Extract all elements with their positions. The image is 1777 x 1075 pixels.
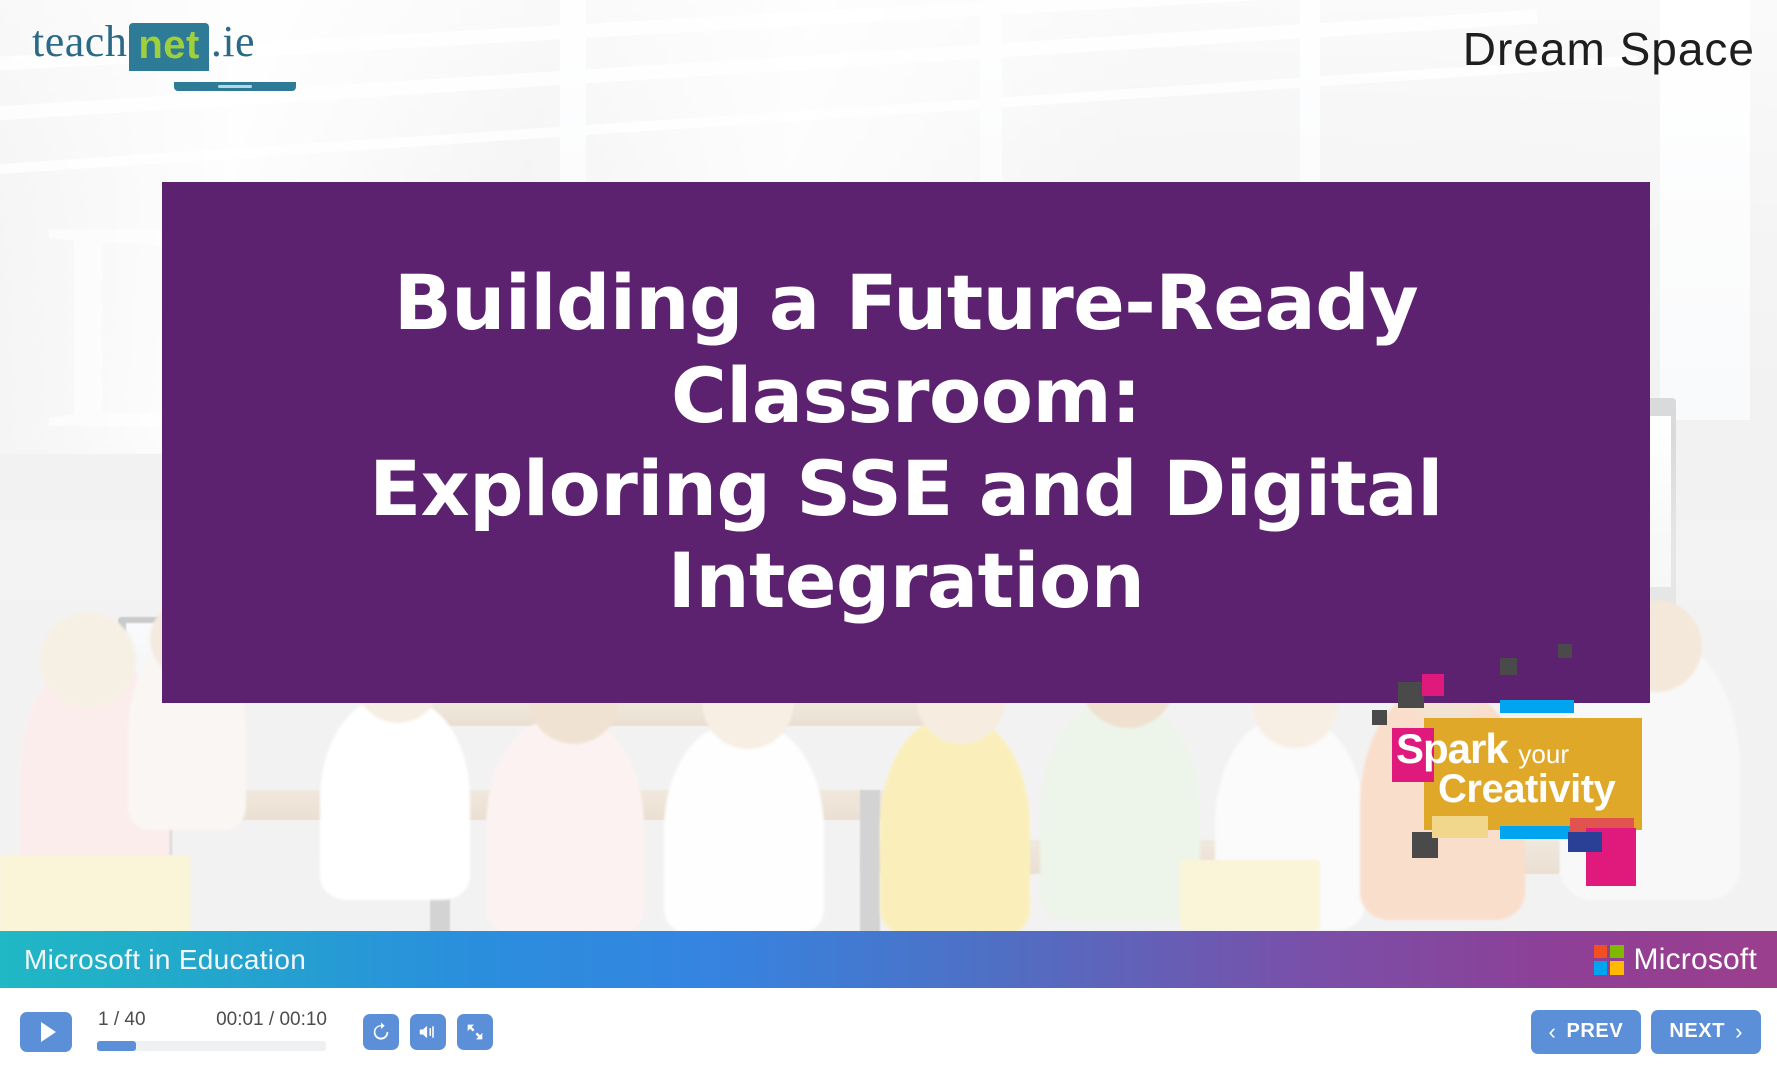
decor-square-magenta bbox=[1422, 674, 1444, 696]
spark-park: park bbox=[1423, 725, 1508, 772]
player-meta-row: 1 / 40 00:01 / 00:10 bbox=[94, 1009, 329, 1031]
slide-navigation: ‹ PREV NEXT › bbox=[1531, 1010, 1762, 1054]
decor-square-gray bbox=[1372, 710, 1387, 725]
slide-title-line-3: Exploring SSE and Digital bbox=[369, 443, 1443, 536]
volume-icon bbox=[417, 1021, 439, 1043]
fullscreen-icon bbox=[464, 1021, 486, 1043]
spark-your: your bbox=[1518, 739, 1569, 769]
decor-square-gray bbox=[1398, 682, 1424, 708]
dream-space-logo: Dream Space bbox=[1463, 22, 1755, 76]
slide-title-line-1: Building a Future-Ready bbox=[369, 257, 1443, 350]
time-display: 00:01 / 00:10 bbox=[216, 1009, 327, 1031]
decor-square-purple bbox=[1420, 628, 1472, 680]
chevron-right-icon: › bbox=[1735, 1021, 1743, 1043]
footer-banner-label: Microsoft in Education bbox=[24, 944, 306, 976]
decor-bar-cyan bbox=[1500, 826, 1574, 839]
spark-wordmark: Spark your Creativity bbox=[1396, 728, 1676, 810]
next-button[interactable]: NEXT › bbox=[1651, 1010, 1761, 1054]
fullscreen-button[interactable] bbox=[457, 1014, 493, 1050]
replay-icon bbox=[370, 1021, 392, 1043]
teachnet-logo-net: net bbox=[129, 23, 209, 71]
progress-bar-fill bbox=[97, 1041, 136, 1051]
play-button[interactable] bbox=[20, 1012, 72, 1052]
play-icon bbox=[41, 1022, 56, 1042]
next-button-label: NEXT bbox=[1669, 1020, 1725, 1043]
spark-line-1: Spark your bbox=[1396, 728, 1676, 769]
teachnet-logo-teach: teach bbox=[32, 17, 127, 66]
player-icon-group bbox=[363, 1014, 493, 1050]
microsoft-squares-icon bbox=[1594, 945, 1624, 975]
slide-stage: D bbox=[0, 0, 1777, 988]
decor-square-gray bbox=[1500, 658, 1517, 675]
prev-button-label: PREV bbox=[1566, 1020, 1623, 1043]
microsoft-wordmark: Microsoft bbox=[1634, 943, 1758, 977]
spark-line-2: Creativity bbox=[1438, 769, 1676, 810]
microsoft-logo: Microsoft bbox=[1594, 943, 1758, 977]
chevron-left-icon: ‹ bbox=[1549, 1021, 1557, 1043]
decor-square-gray bbox=[1558, 644, 1572, 658]
decor-bar-cyan bbox=[1500, 700, 1574, 713]
prev-button[interactable]: ‹ PREV bbox=[1531, 1010, 1642, 1054]
slide-footer-banner: Microsoft in Education Microsoft bbox=[0, 931, 1777, 988]
replay-button[interactable] bbox=[363, 1014, 399, 1050]
slide-title: Building a Future-Ready Classroom: Explo… bbox=[369, 257, 1443, 628]
slide-counter: 1 / 40 bbox=[98, 1009, 146, 1031]
volume-button[interactable] bbox=[410, 1014, 446, 1050]
player-progress-section: 1 / 40 00:01 / 00:10 bbox=[94, 1009, 329, 1055]
teachnet-laptop-base-icon bbox=[174, 82, 296, 91]
teachnet-logo: teachnet.ie bbox=[32, 20, 255, 69]
slide-title-line-4: Integration bbox=[369, 535, 1443, 628]
slide-title-line-2: Classroom: bbox=[369, 350, 1443, 443]
decor-bar-sand bbox=[1432, 816, 1488, 838]
progress-bar-track[interactable] bbox=[97, 1041, 326, 1051]
spark-s: S bbox=[1396, 725, 1423, 772]
decor-square-navy bbox=[1568, 832, 1602, 852]
teachnet-logo-ie: .ie bbox=[211, 17, 255, 66]
spark-creativity-logo: Spark your Creativity bbox=[1372, 620, 1692, 910]
player-control-bar: 1 / 40 00:01 / 00:10 bbox=[0, 988, 1777, 1075]
